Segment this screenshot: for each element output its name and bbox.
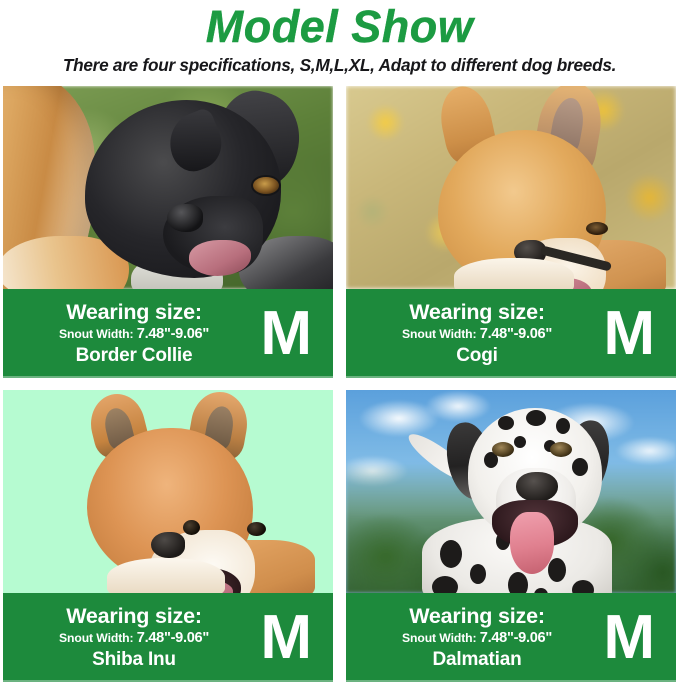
size-letter: M [603,607,654,669]
size-label-bar: Wearing size: Snout Width: 7.48"-9.06" B… [3,289,333,378]
bar-seam [3,376,333,378]
shiba-nose-shape [151,532,185,558]
dalmatian-spot [440,540,462,568]
bar-seam [346,680,676,682]
size-label-text-block: Wearing size: Snout Width: 7.48"-9.06" D… [346,593,594,682]
dalmatian-tongue-shape [510,512,554,574]
collie-head-shape [85,100,281,278]
size-label-text-block: Wearing size: Snout Width: 7.48"-9.06" C… [346,289,594,378]
breed-panel-cogi: Wearing size: Snout Width: 7.48"-9.06" C… [346,86,676,378]
dalmatian-eye-left-shape [492,442,514,457]
dalmatian-photo [346,390,676,593]
snout-width-value: 7.48"-9.06" [137,630,209,646]
wearing-size-label: Wearing size: [409,300,545,325]
dalmatian-spot [548,558,566,582]
snout-width-label: Snout Width: [402,631,477,645]
size-letter: M [260,303,311,365]
dalmatian-spot [556,418,570,434]
size-label-bar: Wearing size: Snout Width: 7.48"-9.06" C… [346,289,676,378]
breed-panel-border-collie: Wearing size: Snout Width: 7.48"-9.06" B… [3,86,333,378]
shiba-eye-right-shape [247,522,266,536]
dalmatian-nose-shape [516,472,558,502]
shiba-eye-left-shape [183,520,200,535]
dalmatian-spot [508,572,528,593]
breed-panel-dalmatian: Wearing size: Snout Width: 7.48"-9.06" D… [346,390,676,682]
breed-name: Border Collie [76,344,193,367]
snout-width-line: Snout Width: 7.48"-9.06" [402,629,552,648]
snout-width-label: Snout Width: [59,631,134,645]
snout-width-label: Snout Width: [59,327,134,341]
header: Model Show There are four specifications… [0,0,679,76]
dalmatian-spot [432,576,458,593]
page-title: Model Show [0,2,679,52]
snout-width-line: Snout Width: 7.48"-9.06" [59,325,209,344]
dalmatian-spot [572,458,588,476]
dalmatian-spot [498,416,514,430]
shiba-chest-shape [107,558,225,593]
snout-width-line: Snout Width: 7.48"-9.06" [59,629,209,648]
wearing-size-label: Wearing size: [409,604,545,629]
snout-width-label: Snout Width: [402,327,477,341]
size-letter: M [260,607,311,669]
corgi-eye-shape [586,222,608,235]
breed-name: Cogi [456,344,497,367]
snout-width-value: 7.48"-9.06" [480,630,552,646]
dalmatian-spot [526,410,546,426]
size-label-bar: Wearing size: Snout Width: 7.48"-9.06" S… [3,593,333,682]
collie-ear-left-shape [160,106,229,177]
snout-width-value: 7.48"-9.06" [137,326,209,342]
breed-name: Dalmatian [432,648,521,671]
corgi-photo [346,86,676,289]
bar-seam [3,680,333,682]
shiba-inu-photo [3,390,333,593]
snout-width-line: Snout Width: 7.48"-9.06" [402,325,552,344]
dalmatian-spot [514,436,526,448]
breed-panel-shiba-inu: Wearing size: Snout Width: 7.48"-9.06" S… [3,390,333,682]
size-label-text-block: Wearing size: Snout Width: 7.48"-9.06" S… [3,593,251,682]
wearing-size-label: Wearing size: [66,604,202,629]
bar-seam [346,376,676,378]
wearing-size-label: Wearing size: [66,300,202,325]
size-label-bar: Wearing size: Snout Width: 7.48"-9.06" D… [346,593,676,682]
collie-eye-shape [253,177,279,194]
corgi-chest-shape [454,258,574,289]
size-label-text-block: Wearing size: Snout Width: 7.48"-9.06" B… [3,289,251,378]
breed-panel-grid: Wearing size: Snout Width: 7.48"-9.06" B… [3,86,676,682]
dalmatian-eye-right-shape [550,442,572,457]
snout-width-value: 7.48"-9.06" [480,326,552,342]
border-collie-photo [3,86,333,289]
page-subtitle: There are four specifications, S,M,L,XL,… [0,54,679,76]
size-letter: M [603,303,654,365]
dalmatian-spot [470,564,486,584]
collie-nose-shape [167,204,203,232]
dalmatian-spot [572,580,594,593]
breed-name: Shiba Inu [92,648,176,671]
model-show-infographic: Model Show There are four specifications… [0,0,679,684]
